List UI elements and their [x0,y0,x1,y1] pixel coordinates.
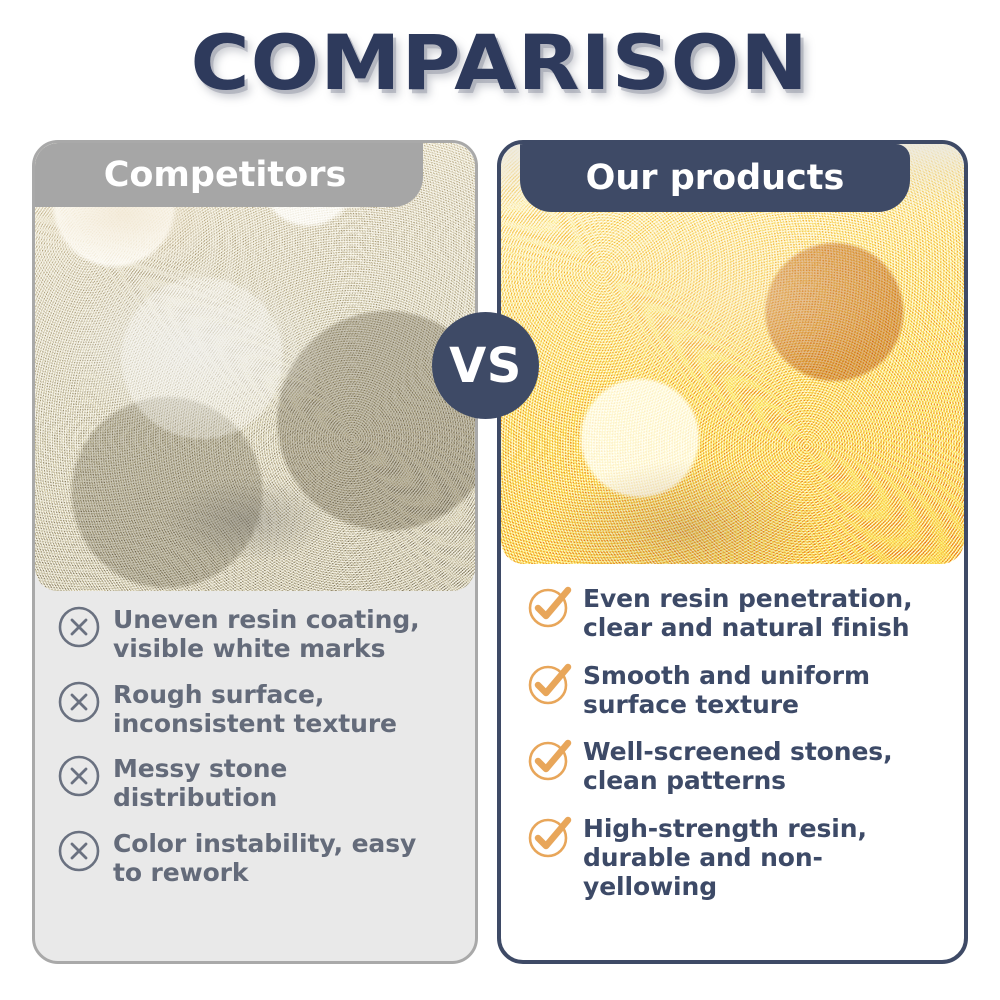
list-item-text: Color instability, easy to rework [113,827,443,888]
page-title: COMPARISON [191,18,809,107]
list-item-text: High-strength resin, durable and non-yel… [583,812,928,902]
list-item-text: Well-screened stones, clean patterns [583,735,928,796]
list-item: Smooth and uniform surface texture [525,659,942,720]
competitors-photo [35,143,475,591]
list-item: High-strength resin, durable and non-yel… [525,812,942,902]
list-item-text: Rough surface, inconsistent texture [113,678,443,739]
competitors-list: Uneven resin coating, visible white mark… [35,603,475,901]
list-item-text: Even resin penetration, clear and natura… [583,582,928,643]
list-item: Uneven resin coating, visible white mark… [57,603,457,664]
competitors-badge-label: Competitors [104,155,347,195]
competitors-card: Competitors Uneven resin coating, visibl… [32,140,478,964]
check-circle-icon [525,583,573,631]
list-item: Even resin penetration, clear and natura… [525,582,942,643]
competitors-photo-texture [35,143,475,591]
x-circle-icon [57,680,101,724]
x-circle-icon [57,829,101,873]
list-item: Messy stone distribution [57,752,457,813]
list-item: Color instability, easy to rework [57,827,457,888]
list-item-text: Uneven resin coating, visible white mark… [113,603,443,664]
list-item: Well-screened stones, clean patterns [525,735,942,796]
check-circle-icon [525,736,573,784]
vs-label: VS [449,338,522,394]
page-title-wrap: COMPARISON [0,18,1000,107]
check-circle-icon [525,813,573,861]
x-circle-icon [57,605,101,649]
list-item-text: Smooth and uniform surface texture [583,659,928,720]
x-circle-icon [57,754,101,798]
our-products-badge: Our products [520,144,910,212]
list-item-text: Messy stone distribution [113,752,443,813]
vs-badge: VS [432,312,539,419]
check-circle-icon [525,660,573,708]
our-products-card: Our products Even resin penetration, cle… [497,140,968,964]
our-products-badge-label: Our products [586,158,845,198]
our-products-list: Even resin penetration, clear and natura… [501,582,964,917]
competitors-badge: Competitors [35,143,423,207]
list-item: Rough surface, inconsistent texture [57,678,457,739]
